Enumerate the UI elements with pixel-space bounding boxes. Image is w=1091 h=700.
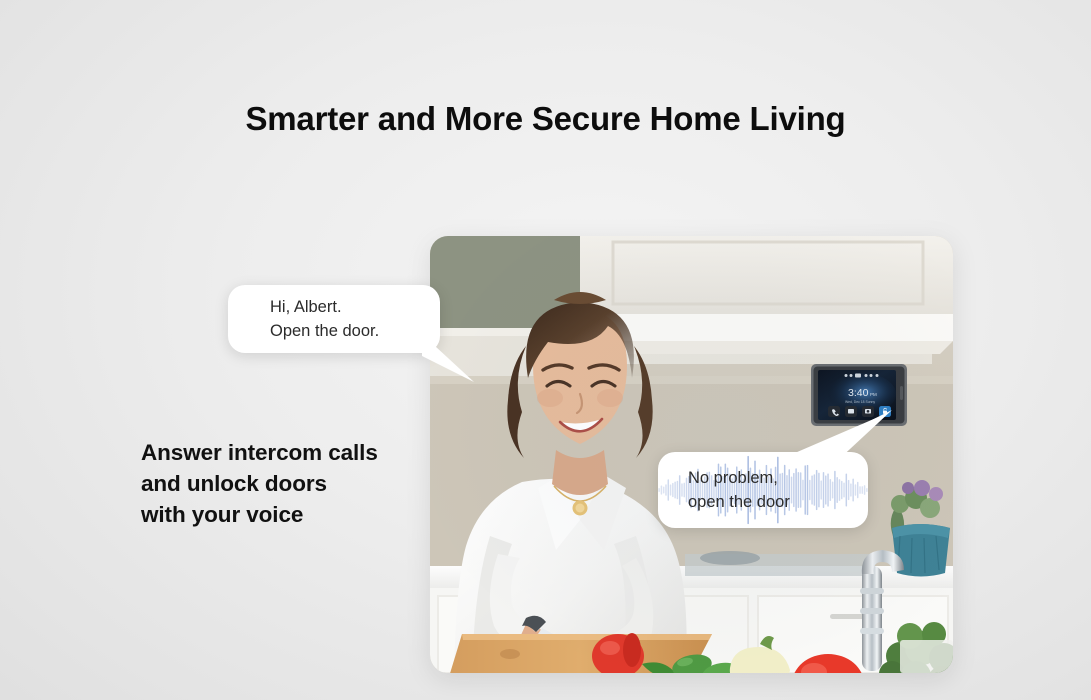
bubble-user-text: Hi, Albert. Open the door. bbox=[228, 285, 440, 343]
caption-line-1: Answer intercom calls bbox=[141, 437, 378, 468]
caption-line-3: with your voice bbox=[141, 499, 378, 530]
bubble-device-text: No problem, open the door bbox=[658, 452, 868, 514]
bubble-device: No problem, open the door bbox=[658, 452, 868, 528]
bubble-user: Hi, Albert. Open the door. bbox=[228, 285, 440, 353]
caption-line-2: and unlock doors bbox=[141, 468, 378, 499]
page-title: Smarter and More Secure Home Living bbox=[0, 100, 1091, 138]
feature-caption: Answer intercom calls and unlock doors w… bbox=[141, 437, 378, 530]
